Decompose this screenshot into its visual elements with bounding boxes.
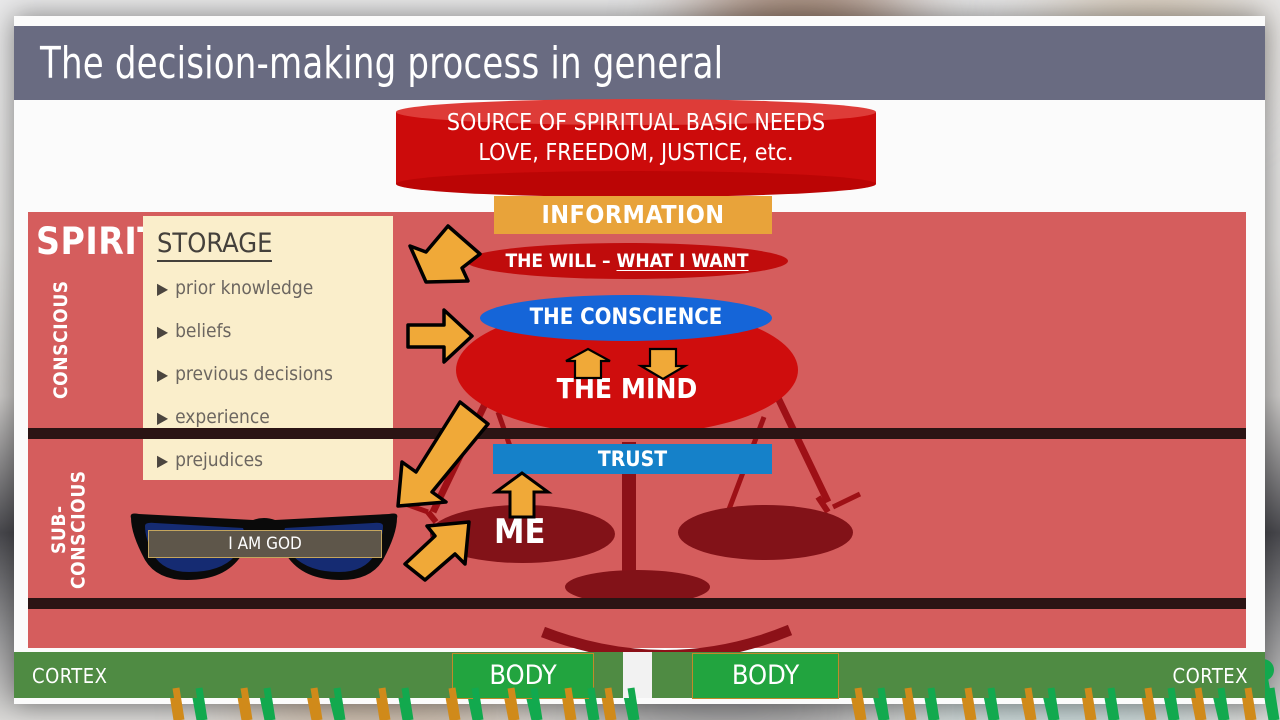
neuron-arrow-orange-tail xyxy=(382,688,387,720)
i-am-god-banner: I AM GOD xyxy=(148,530,382,558)
neuron-arrow-orange-tail xyxy=(511,688,516,720)
arrow-me-to-trust-icon xyxy=(494,472,550,518)
neuron-arrow-orange-tail xyxy=(452,688,457,720)
cortex-label-right: CORTEX xyxy=(1173,664,1248,688)
list-item: ▶beliefs xyxy=(157,310,393,353)
bullet-icon: ▶ xyxy=(157,408,168,427)
neuron-pin-green-tail xyxy=(475,688,480,720)
neuron-arrow-orange-tail xyxy=(314,688,319,720)
bullet-icon: ▶ xyxy=(157,322,168,341)
neuron-pin-green-tail xyxy=(1051,688,1056,720)
neuron-arrow-orange-tail xyxy=(968,688,973,720)
the-conscience-ellipse: THE CONSCIENCE xyxy=(480,295,772,341)
neuron-arrow-orange-tail xyxy=(858,688,863,720)
conscious-subconscious-divider xyxy=(28,428,1246,439)
neuron-pin-green-tail xyxy=(1221,688,1226,720)
neuron-pin-green-tail xyxy=(405,688,410,720)
neuron-pin-green-tail xyxy=(1271,688,1276,720)
neuron-arrow-orange-tail xyxy=(1148,688,1153,720)
mind-up-arrow-icon xyxy=(565,348,611,378)
conscious-label: CONSCIOUS xyxy=(52,280,71,400)
neuron-pin-green-tail xyxy=(631,688,636,720)
cortex-label-left: CORTEX xyxy=(32,664,107,688)
mind-down-arrow-icon xyxy=(640,348,686,380)
bullet-icon: ▶ xyxy=(157,279,168,298)
neuron-pin-green-tail xyxy=(1171,688,1176,720)
cylinder-bottom-cap xyxy=(396,171,876,197)
will-underlined: WHAT I WANT xyxy=(616,250,748,272)
bullet-icon: ▶ xyxy=(157,365,168,384)
information-bar: INFORMATION xyxy=(494,196,772,234)
the-will-ellipse: THE WILL – WHAT I WANT xyxy=(466,243,788,279)
neuron-arrow-orange-tail xyxy=(568,688,573,720)
neuron-arrow-orange-tail xyxy=(1248,688,1253,720)
arrow-to-storage-upper-icon xyxy=(404,224,482,286)
neuron-arrow-orange-tail xyxy=(1028,688,1033,720)
neuron-arrow-orange-tail xyxy=(1198,688,1203,720)
cylinder-label-line2: LOVE, FREEDOM, JUSTICE, etc. xyxy=(396,138,876,168)
neuron-arrow-orange-tail xyxy=(176,688,181,720)
will-prefix: THE WILL – xyxy=(505,250,616,272)
arrow-to-mind-right-icon xyxy=(406,307,474,365)
neuron-signals-front xyxy=(0,688,1280,720)
neuron-pin-green-tail xyxy=(534,688,539,720)
arrow-to-me-upright-icon xyxy=(403,520,473,582)
page-title: The decision-making process in general xyxy=(40,30,900,98)
list-item: ▶prior knowledge xyxy=(157,267,393,310)
neuron-pin-green-tail xyxy=(931,688,936,720)
neuron-pin-green-tail xyxy=(267,688,272,720)
arrow-diagonal-to-subconscious-icon xyxy=(388,400,492,510)
neuron-arrow-orange-tail xyxy=(1088,688,1093,720)
storage-title: STORAGE xyxy=(143,216,393,261)
neuron-pin-green-tail xyxy=(337,688,342,720)
neuron-pin-green-tail xyxy=(991,688,996,720)
cylinder-label: SOURCE OF SPIRITUAL BASIC NEEDS LOVE, FR… xyxy=(396,108,876,168)
the-mind-label: THE MIND xyxy=(456,372,798,405)
neuron-pin-green-tail xyxy=(591,688,596,720)
spirit-label: SPIRIT xyxy=(36,220,160,263)
neuron-pin-green-tail xyxy=(199,688,204,720)
neuron-pin-green-tail xyxy=(881,688,886,720)
source-of-spiritual-needs-cylinder: SOURCE OF SPIRITUAL BASIC NEEDS LOVE, FR… xyxy=(396,112,876,184)
subconscious-line2: CONSCIOUS xyxy=(67,471,89,590)
list-item: ▶previous decisions xyxy=(157,353,393,396)
storage-list: ▶prior knowledge ▶beliefs ▶previous deci… xyxy=(143,261,393,482)
neuron-arrow-orange-tail xyxy=(244,688,249,720)
storage-box: STORAGE ▶prior knowledge ▶beliefs ▶previ… xyxy=(143,216,393,480)
neuron-pin-green-tail xyxy=(1111,688,1116,720)
list-item: ▶prejudices xyxy=(157,439,393,482)
neuron-arrow-orange-tail xyxy=(908,688,913,720)
subconscious-label: SUB-CONSCIOUS xyxy=(50,470,89,590)
trust-bar: TRUST xyxy=(493,444,772,474)
scale-pan-right xyxy=(678,505,853,560)
cylinder-label-line1: SOURCE OF SPIRITUAL BASIC NEEDS xyxy=(396,108,876,138)
neuron-arrow-orange-tail xyxy=(608,688,613,720)
spirit-body-divider xyxy=(28,598,1246,609)
bullet-icon: ▶ xyxy=(157,451,168,470)
